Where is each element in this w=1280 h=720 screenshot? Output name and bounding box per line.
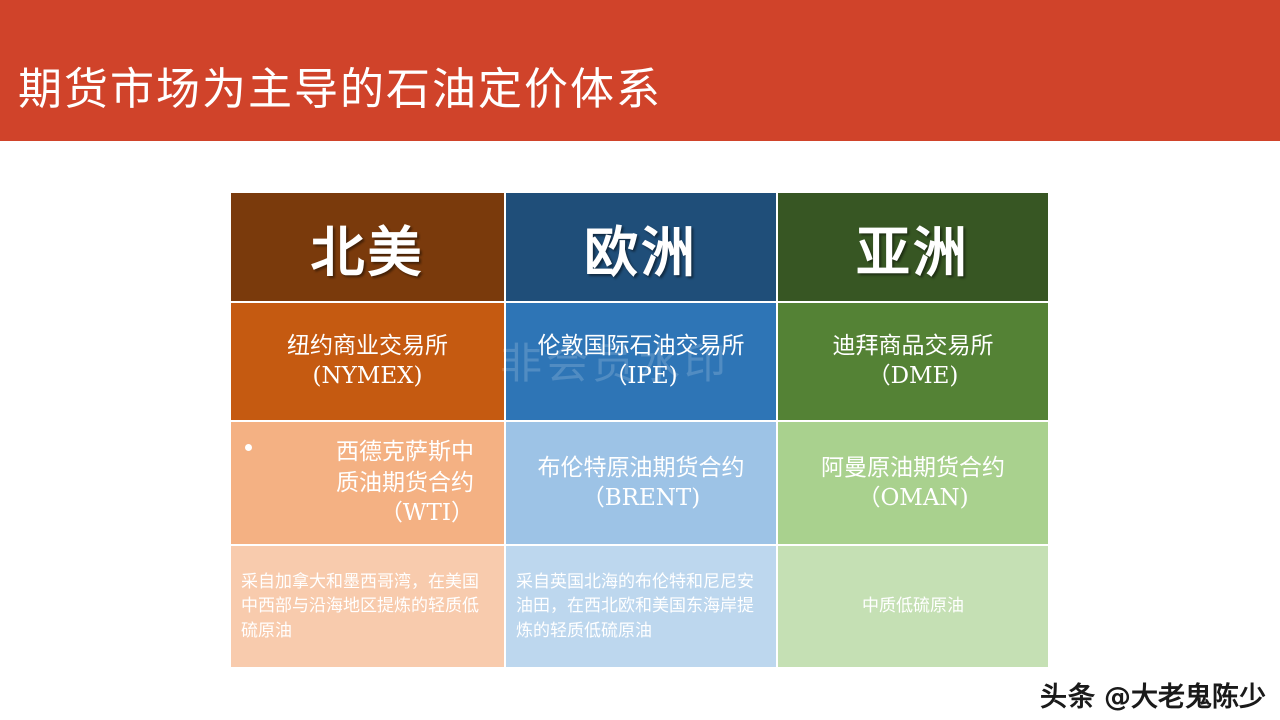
exchange-code-line2: （IPE) xyxy=(512,362,770,391)
bullet-icon xyxy=(245,444,252,451)
contract-line1: 阿曼原油期货合约 xyxy=(786,453,1040,483)
exchange-cell-asia: 迪拜商品交易所 （DME) xyxy=(778,303,1048,420)
page-title: 期货市场为主导的石油定价体系 xyxy=(0,67,662,141)
contract-cell-north-america: 西德克萨斯中 质油期货合约 （WTI） xyxy=(231,422,504,544)
exchange-name-line1: 伦敦国际石油交易所 xyxy=(512,332,770,361)
title-banner: 期货市场为主导的石油定价体系 xyxy=(0,0,1280,141)
table-row-descriptions: 采自加拿大和墨西哥湾，在美国中西部与沿海地区提炼的轻质低硫原油 采自英国北海的布… xyxy=(231,546,1048,667)
contract-line1: 西德克萨斯中 xyxy=(239,437,474,467)
column-header-north-america: 北美 xyxy=(231,193,504,301)
exchange-code-line2: (NYMEX) xyxy=(237,362,498,391)
slide-root: 期货市场为主导的石油定价体系 北美 欧洲 亚洲 纽约商业交易所 (NYMEX) xyxy=(0,0,1280,720)
exchange-name-line1: 纽约商业交易所 xyxy=(237,332,498,361)
contract-line1: 布伦特原油期货合约 xyxy=(514,453,768,483)
contract-cell-europe: 布伦特原油期货合约 （BRENT) xyxy=(506,422,776,544)
column-header-europe: 欧洲 xyxy=(506,193,776,301)
column-header-asia: 亚洲 xyxy=(778,193,1048,301)
contract-cell-asia: 阿曼原油期货合约 （OMAN) xyxy=(778,422,1048,544)
attribution-handle: @大老鬼陈少 xyxy=(1104,675,1266,714)
contract-line3: （WTI） xyxy=(239,498,474,528)
description-cell-europe: 采自英国北海的布伦特和尼尼安油田，在西北欧和美国东海岸提炼的轻质低硫原油 xyxy=(506,546,776,667)
attribution-platform: 头条 xyxy=(1040,675,1096,714)
table-row-headers: 北美 欧洲 亚洲 xyxy=(231,193,1048,301)
description-cell-north-america: 采自加拿大和墨西哥湾，在美国中西部与沿海地区提炼的轻质低硫原油 xyxy=(231,546,504,667)
pricing-matrix-table: 北美 欧洲 亚洲 纽约商业交易所 (NYMEX) 伦敦国际石油交易所 （IPE)… xyxy=(229,191,1044,661)
exchange-cell-europe: 伦敦国际石油交易所 （IPE) xyxy=(506,303,776,420)
contract-line2: 质油期货合约 xyxy=(239,468,474,498)
attribution: 头条 @大老鬼陈少 xyxy=(1040,675,1266,714)
exchange-name-line1: 迪拜商品交易所 xyxy=(784,332,1042,361)
table-row-contracts: 西德克萨斯中 质油期货合约 （WTI） 布伦特原油期货合约 （BRENT) 阿曼… xyxy=(231,422,1048,544)
exchange-code-line2: （DME) xyxy=(784,362,1042,391)
contract-line2: （OMAN) xyxy=(786,483,1040,513)
contract-line2: （BRENT) xyxy=(514,483,768,513)
table-row-exchanges: 纽约商业交易所 (NYMEX) 伦敦国际石油交易所 （IPE) 迪拜商品交易所 … xyxy=(231,303,1048,420)
exchange-cell-north-america: 纽约商业交易所 (NYMEX) xyxy=(231,303,504,420)
description-cell-asia: 中质低硫原油 xyxy=(778,546,1048,667)
